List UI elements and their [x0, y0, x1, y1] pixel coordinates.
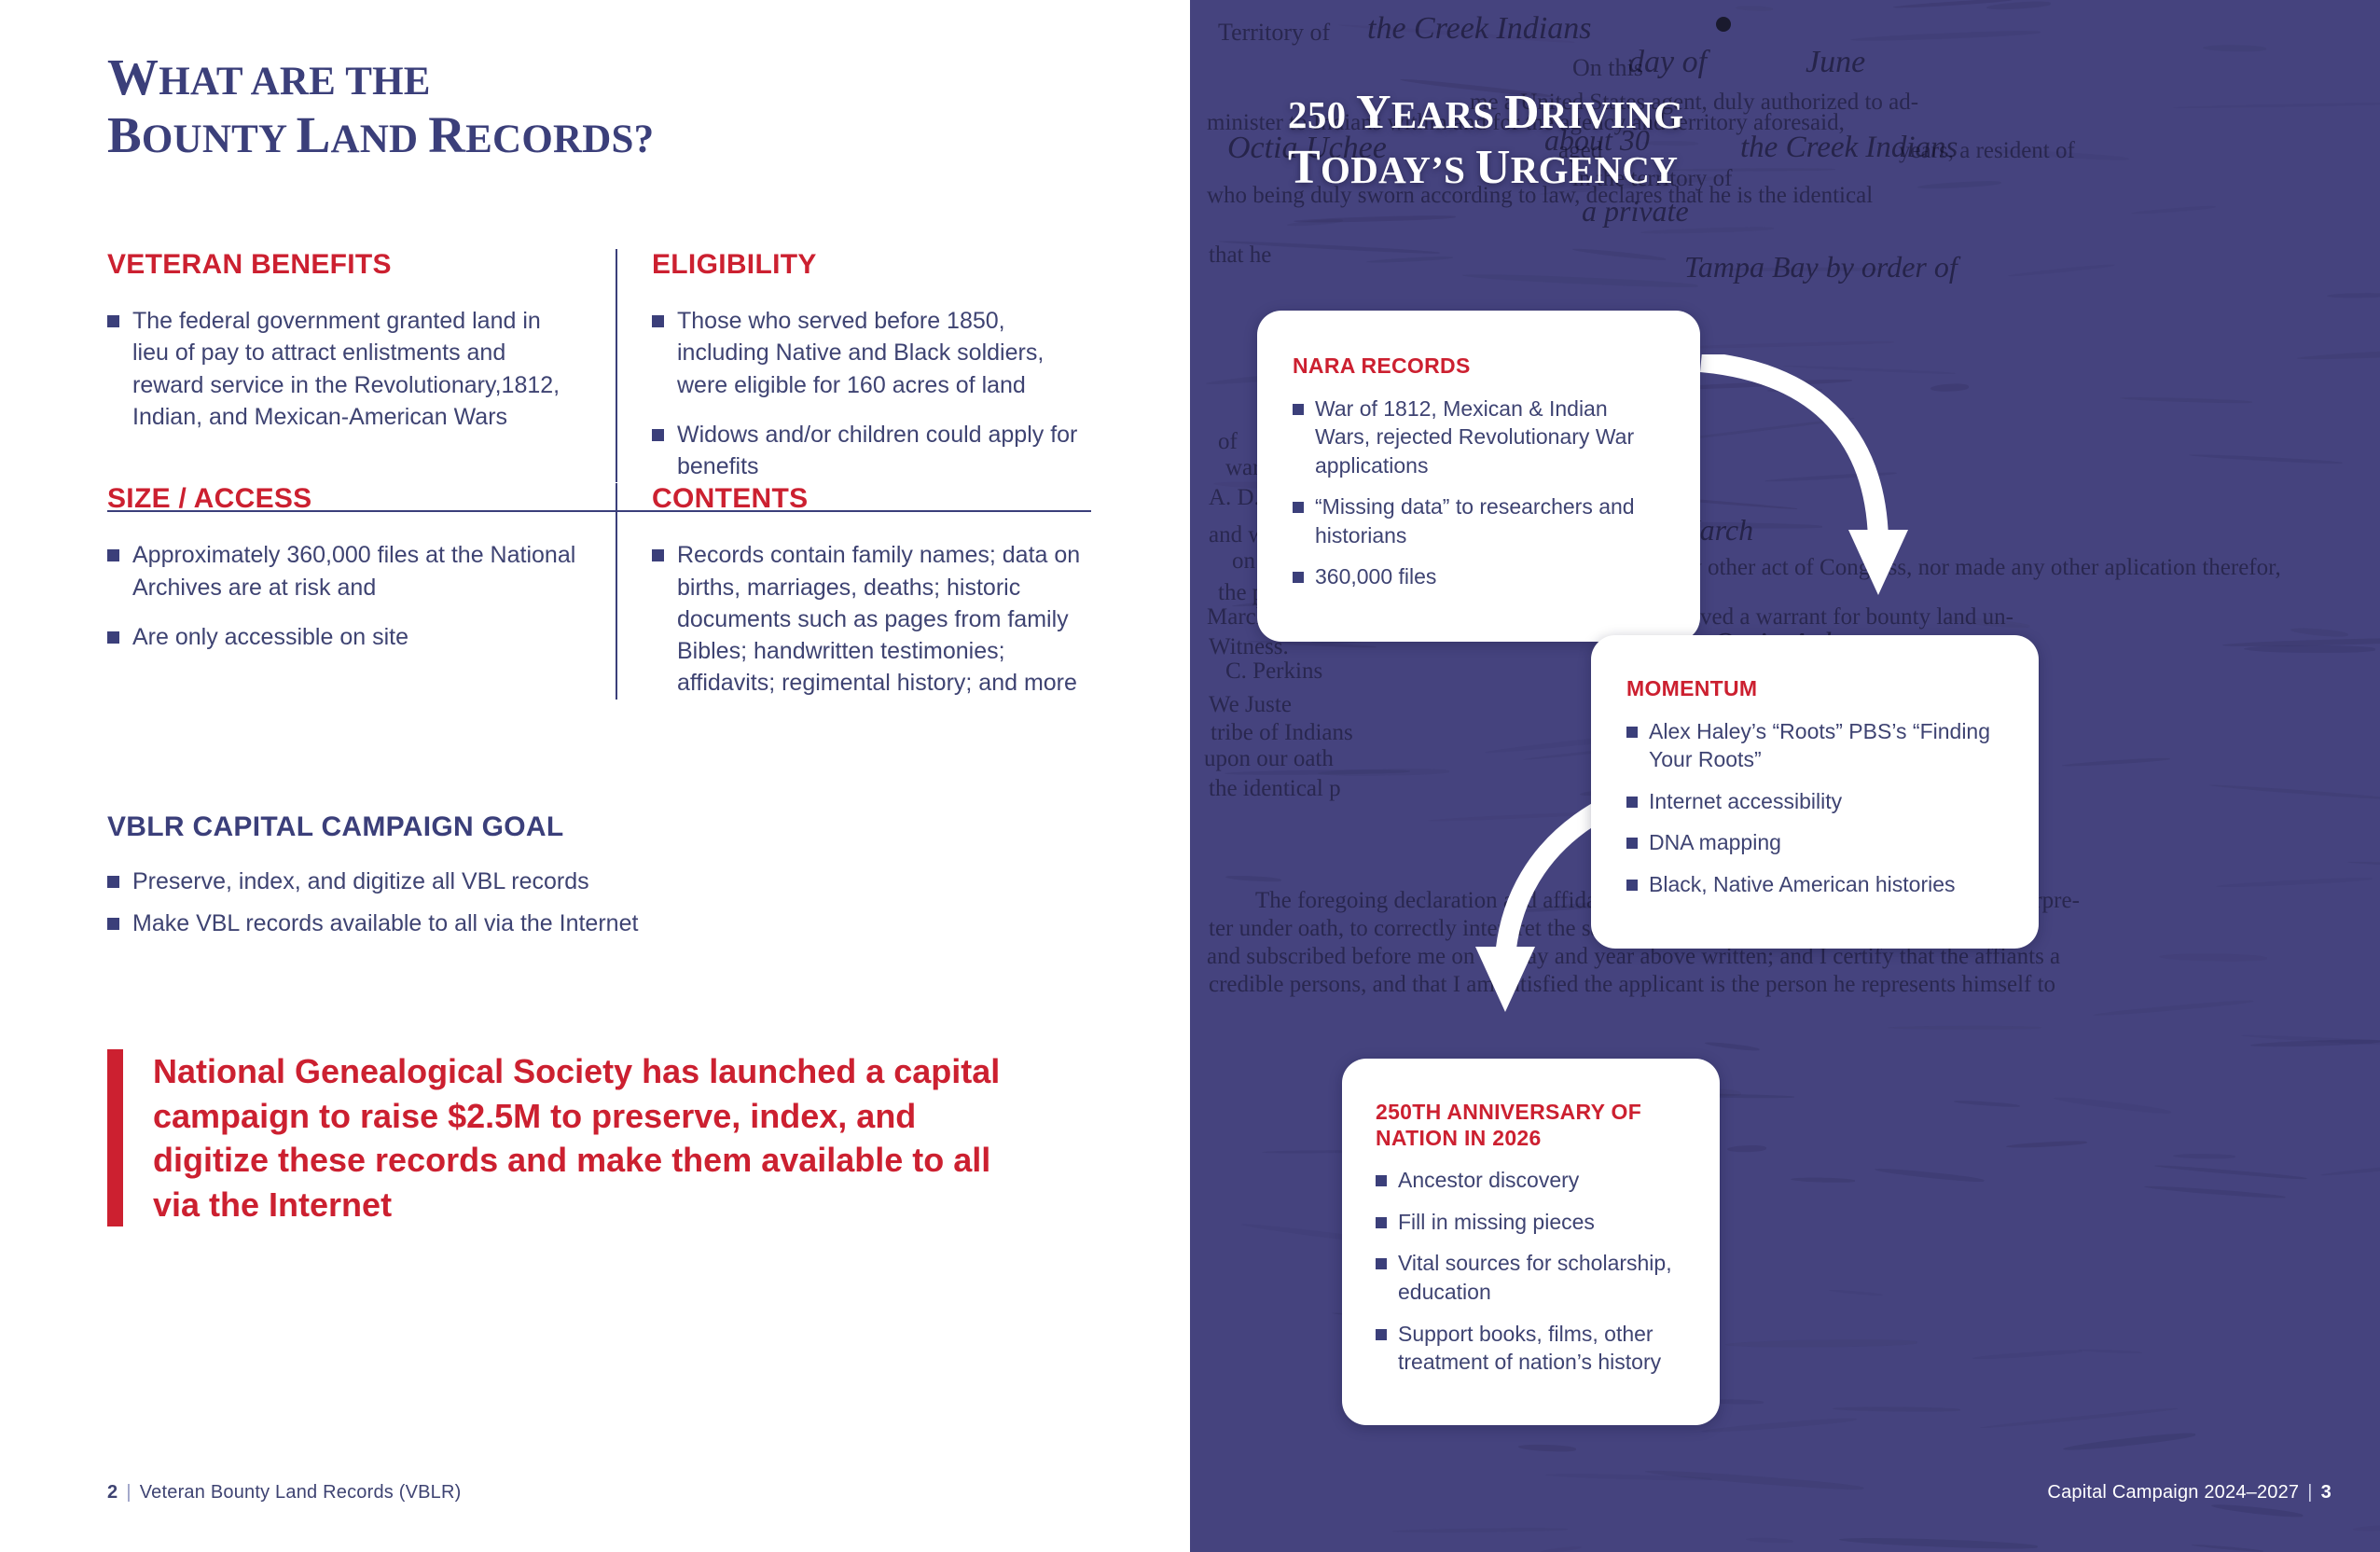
footer-page-number: 2	[107, 1482, 118, 1503]
manuscript-ink-stroke	[1571, 247, 1666, 261]
manuscript-print-line: Territory of	[1218, 19, 1330, 47]
manuscript-ink-stroke	[2078, 1349, 2142, 1354]
manuscript-ink-stroke	[1672, 340, 1894, 350]
manuscript-ink-stroke	[2216, 876, 2373, 888]
manuscript-ink-stroke	[2353, 1523, 2380, 1532]
manuscript-print-line: We Juste	[1209, 692, 1292, 718]
card-nara-records: NARA RECORDS War of 1812, Mexican & Indi…	[1257, 311, 1700, 642]
bullet-list-eligibility: Those who served before 1850, including …	[652, 305, 1091, 482]
list-item: Preserve, index, and digitize all VBL re…	[107, 866, 1091, 897]
manuscript-print-line: that he	[1209, 242, 1271, 269]
page-title: WHAT ARE THE BOUNTY LAND RECORDS?	[107, 48, 1130, 163]
manuscript-ink-stroke	[1833, 1406, 1960, 1412]
manuscript-ink-stroke	[2203, 45, 2266, 51]
manuscript-ink-stroke	[2063, 1431, 2196, 1453]
card-250th-anniversary: 250TH ANNIVERSARY OF NATION IN 2026 Ance…	[1342, 1059, 1720, 1425]
manuscript-ink-stroke	[1727, 1145, 1766, 1153]
manuscript-ink-stroke	[2297, 343, 2380, 361]
footer-separator: |	[118, 1482, 139, 1503]
manuscript-ink-stroke	[1972, 1349, 2083, 1361]
list-item: DNA mapping	[1626, 828, 2003, 857]
footer-left: 2|Veteran Bounty Land Records (VBLR)	[107, 1482, 462, 1503]
list-item: Fill in missing pieces	[1376, 1208, 1686, 1237]
manuscript-print-line: the identical p	[1209, 776, 1341, 802]
page-title-line-1: WHAT ARE THE	[107, 48, 1130, 106]
pull-quote-text: National Genealogical Society has launch…	[123, 1049, 1003, 1226]
decorative-dot-icon	[1716, 17, 1731, 32]
bullet-list-contents: Records contain family names; data on bi…	[652, 539, 1091, 699]
list-item: Black, Native American histories	[1626, 870, 2003, 899]
bullet-list-momentum: Alex Haley’s “Roots” PBS’s “Finding Your…	[1626, 717, 2003, 899]
manuscript-script-line: the Creek Indians	[1740, 131, 1958, 165]
section-heading-size-access: SIZE / ACCESS	[107, 483, 578, 515]
manuscript-script-line: June	[1806, 45, 1865, 80]
section-heading-eligibility: ELIGIBILITY	[652, 249, 1091, 281]
manuscript-ink-stroke	[2173, 102, 2380, 109]
footer-separator: |	[2299, 1482, 2320, 1503]
list-item: Approximately 360,000 files at the Natio…	[107, 539, 578, 603]
list-item: War of 1812, Mexican & Indian Wars, reje…	[1293, 395, 1663, 480]
manuscript-ink-stroke	[2189, 453, 2343, 464]
manuscript-ink-stroke	[2327, 292, 2380, 298]
quadrant-veteran-benefits: VETERAN BENEFITS The federal government …	[107, 249, 616, 482]
bullet-list-size-access: Approximately 360,000 files at the Natio…	[107, 539, 578, 653]
manuscript-ink-stroke	[2192, 1544, 2263, 1552]
manuscript-print-line: upon our oath	[1204, 746, 1334, 772]
list-item: Support books, films, other treatment of…	[1376, 1320, 1686, 1377]
left-page: WHAT ARE THE BOUNTY LAND RECORDS? VETERA…	[0, 0, 1190, 1552]
manuscript-ink-stroke	[2209, 783, 2380, 800]
manuscript-ink-stroke	[1829, 1289, 1883, 1296]
manuscript-script-line: the Creek Indians	[1367, 11, 1591, 47]
manuscript-ink-stroke	[2006, 1140, 2087, 1149]
manuscript-ink-stroke	[1701, 1416, 1857, 1434]
manuscript-ink-stroke	[1888, 1025, 2041, 1029]
page-title-line-2: BOUNTY LAND RECORDS?	[107, 106, 1130, 164]
manuscript-ink-stroke	[1392, 1528, 1568, 1534]
card-momentum: MOMENTUM Alex Haley’s “Roots” PBS’s “Fin…	[1591, 635, 2039, 949]
manuscript-ink-stroke	[1746, 1537, 1794, 1544]
manuscript-ink-stroke	[2120, 396, 2252, 404]
manuscript-ink-stroke	[2173, 1154, 2235, 1158]
manuscript-ink-stroke	[1849, 29, 2040, 43]
pull-quote: National Genealogical Society has launch…	[107, 1049, 1003, 1226]
quadrant-eligibility: ELIGIBILITY Those who served before 1850…	[616, 249, 1091, 482]
manuscript-ink-stroke	[1736, 6, 1773, 12]
manuscript-print-line: of	[1218, 429, 1238, 455]
manuscript-ink-stroke	[2053, 1095, 2171, 1115]
pull-quote-accent-bar	[107, 1049, 123, 1226]
right-page-title-line-1: 250 YEARS DRIVING	[1288, 85, 1683, 140]
two-page-spread: WHAT ARE THE BOUNTY LAND RECORDS? VETERA…	[0, 0, 2380, 1552]
manuscript-ink-stroke	[1930, 382, 1969, 392]
manuscript-ink-stroke	[2061, 756, 2169, 768]
manuscript-ink-stroke	[1916, 180, 2000, 190]
manuscript-ink-stroke	[1517, 1444, 1575, 1452]
manuscript-ink-stroke	[1462, 272, 1698, 289]
list-item: The federal government granted land in l…	[107, 305, 578, 433]
manuscript-ink-stroke	[1875, 1167, 1985, 1184]
manuscript-ink-stroke	[2153, 1164, 2305, 1181]
list-item: Widows and/or children could apply for b…	[652, 419, 1091, 483]
list-item: “Missing data” to researchers and histor…	[1293, 492, 1663, 549]
list-item: Records contain family names; data on bi…	[652, 539, 1091, 699]
list-item: Alex Haley’s “Roots” PBS’s “Finding Your…	[1626, 717, 2003, 774]
manuscript-script-line: a private	[1582, 194, 1689, 229]
bullet-list-veteran-benefits: The federal government granted land in l…	[107, 305, 578, 433]
manuscript-print-line: tribe of Indians	[1211, 720, 1353, 746]
footer-page-number: 3	[2321, 1482, 2332, 1503]
manuscript-ink-stroke	[2347, 861, 2380, 868]
manuscript-ink-stroke	[2211, 1503, 2304, 1518]
manuscript-script-line: Tampa Bay by order of	[1684, 250, 1958, 284]
manuscript-script-line: day of	[1628, 45, 1707, 80]
quadrant-size-access: SIZE / ACCESS Approximately 360,000 file…	[107, 483, 616, 699]
manuscript-ink-stroke	[1980, 1406, 2178, 1430]
manuscript-ink-stroke	[1225, 875, 1281, 882]
section-heading-veteran-benefits: VETERAN BENEFITS	[107, 249, 578, 281]
right-page-title-line-2: TODAY’S URGENCY	[1288, 140, 1683, 195]
manuscript-ink-stroke	[2290, 627, 2348, 638]
manuscript-print-line: C. Perkins	[1225, 658, 1322, 685]
list-item: Ancestor discovery	[1376, 1166, 1686, 1195]
manuscript-ink-stroke	[1366, 255, 1453, 263]
manuscript-ink-stroke	[1838, 1536, 2037, 1550]
list-item: Those who served before 1850, including …	[652, 305, 1091, 401]
card-heading-momentum: MOMENTUM	[1626, 676, 2003, 702]
list-item: Vital sources for scholarship, education	[1376, 1249, 1686, 1306]
section-heading-campaign-goal: VBLR CAPITAL CAMPAIGN GOAL	[107, 811, 1091, 843]
manuscript-ink-stroke	[2320, 1160, 2380, 1178]
capital-campaign-goal-block: VBLR CAPITAL CAMPAIGN GOAL Preserve, ind…	[107, 811, 1091, 940]
manuscript-ink-stroke	[1725, 1338, 1917, 1349]
manuscript-ink-stroke	[2144, 1185, 2286, 1199]
manuscript-ink-stroke	[1791, 1177, 1855, 1183]
manuscript-ink-stroke	[1540, 1545, 1581, 1552]
bullet-list-campaign-goal: Preserve, index, and digitize all VBL re…	[107, 866, 1091, 940]
list-item: Make VBL records available to all via th…	[107, 908, 1091, 939]
quadrant-contents: CONTENTS Records contain family names; d…	[616, 483, 1091, 699]
manuscript-ink-stroke	[1954, 1100, 2020, 1108]
bullet-list-nara-records: War of 1812, Mexican & Indian Wars, reje…	[1293, 395, 1663, 591]
right-page-title: 250 YEARS DRIVING TODAY’S URGENCY	[1288, 85, 1683, 196]
list-item: 360,000 files	[1293, 562, 1663, 591]
list-item: Internet accessibility	[1626, 787, 2003, 816]
manuscript-ink-stroke	[2131, 205, 2216, 216]
footer-label: Capital Campaign 2024–2027	[2047, 1482, 2299, 1503]
bullet-list-250th-anniversary: Ancestor discovery Fill in missing piece…	[1376, 1166, 1686, 1376]
footer-label: Veteran Bounty Land Records (VBLR)	[140, 1482, 462, 1503]
right-page: Territory ofOn thisme a United States ag…	[1190, 0, 2380, 1552]
arrow-nara-to-momentum	[1684, 354, 1927, 634]
manuscript-ink-stroke	[2159, 953, 2267, 962]
footer-right: Capital Campaign 2024–2027|3	[2047, 1482, 2332, 1503]
quadrant-grid: VETERAN BENEFITS The federal government …	[107, 249, 1091, 700]
list-item: Are only accessible on site	[107, 621, 578, 653]
section-heading-contents: CONTENTS	[652, 483, 1091, 515]
manuscript-ink-stroke	[2093, 999, 2253, 1018]
card-heading-250th-anniversary: 250TH ANNIVERSARY OF NATION IN 2026	[1376, 1100, 1686, 1151]
card-heading-nara-records: NARA RECORDS	[1293, 353, 1663, 380]
manuscript-ink-stroke	[2008, 263, 2115, 278]
